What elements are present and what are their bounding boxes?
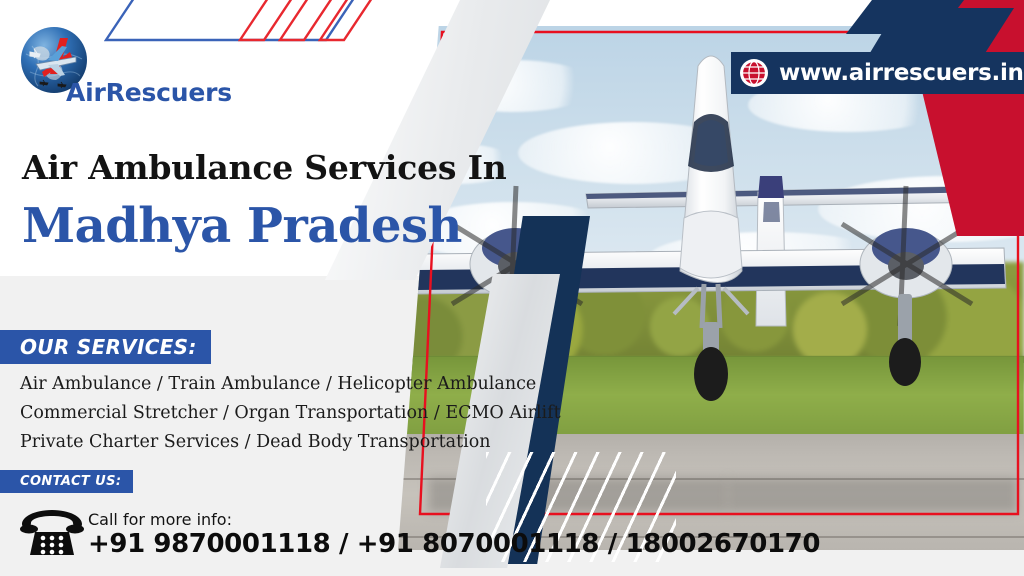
logo-wordmark: AirRescuers <box>66 78 232 107</box>
logo-word-rescuers: Rescuers <box>106 78 232 107</box>
telephone-icon <box>18 508 86 558</box>
headline-line-1: Air Ambulance Services In <box>22 148 507 187</box>
page-title: Madhya Pradesh <box>22 198 462 254</box>
our-services-badge: OUR SERVICES: <box>0 330 211 364</box>
service-line: Commercial Stretcher / Organ Transportat… <box>20 403 561 423</box>
promotional-banner: AirRescuers www.airrescuers.in Air Ambul… <box>0 0 1024 576</box>
red-outline-parallelograms <box>238 0 388 42</box>
phone-numbers[interactable]: +91 9870001118 / +91 8070001118 / 180026… <box>88 529 820 559</box>
service-line: Air Ambulance / Train Ambulance / Helico… <box>20 374 536 394</box>
brand-logo[interactable]: AirRescuers <box>18 24 208 100</box>
website-url-text: www.airrescuers.in <box>779 60 1024 86</box>
call-for-info-label: Call for more info: <box>88 510 232 529</box>
website-url-bar[interactable]: www.airrescuers.in <box>731 52 1024 94</box>
contact-us-badge: CONTACT US: <box>0 470 133 493</box>
logo-word-air: Air <box>66 78 106 107</box>
globe-icon <box>739 58 769 88</box>
service-line: Private Charter Services / Dead Body Tra… <box>20 432 491 452</box>
